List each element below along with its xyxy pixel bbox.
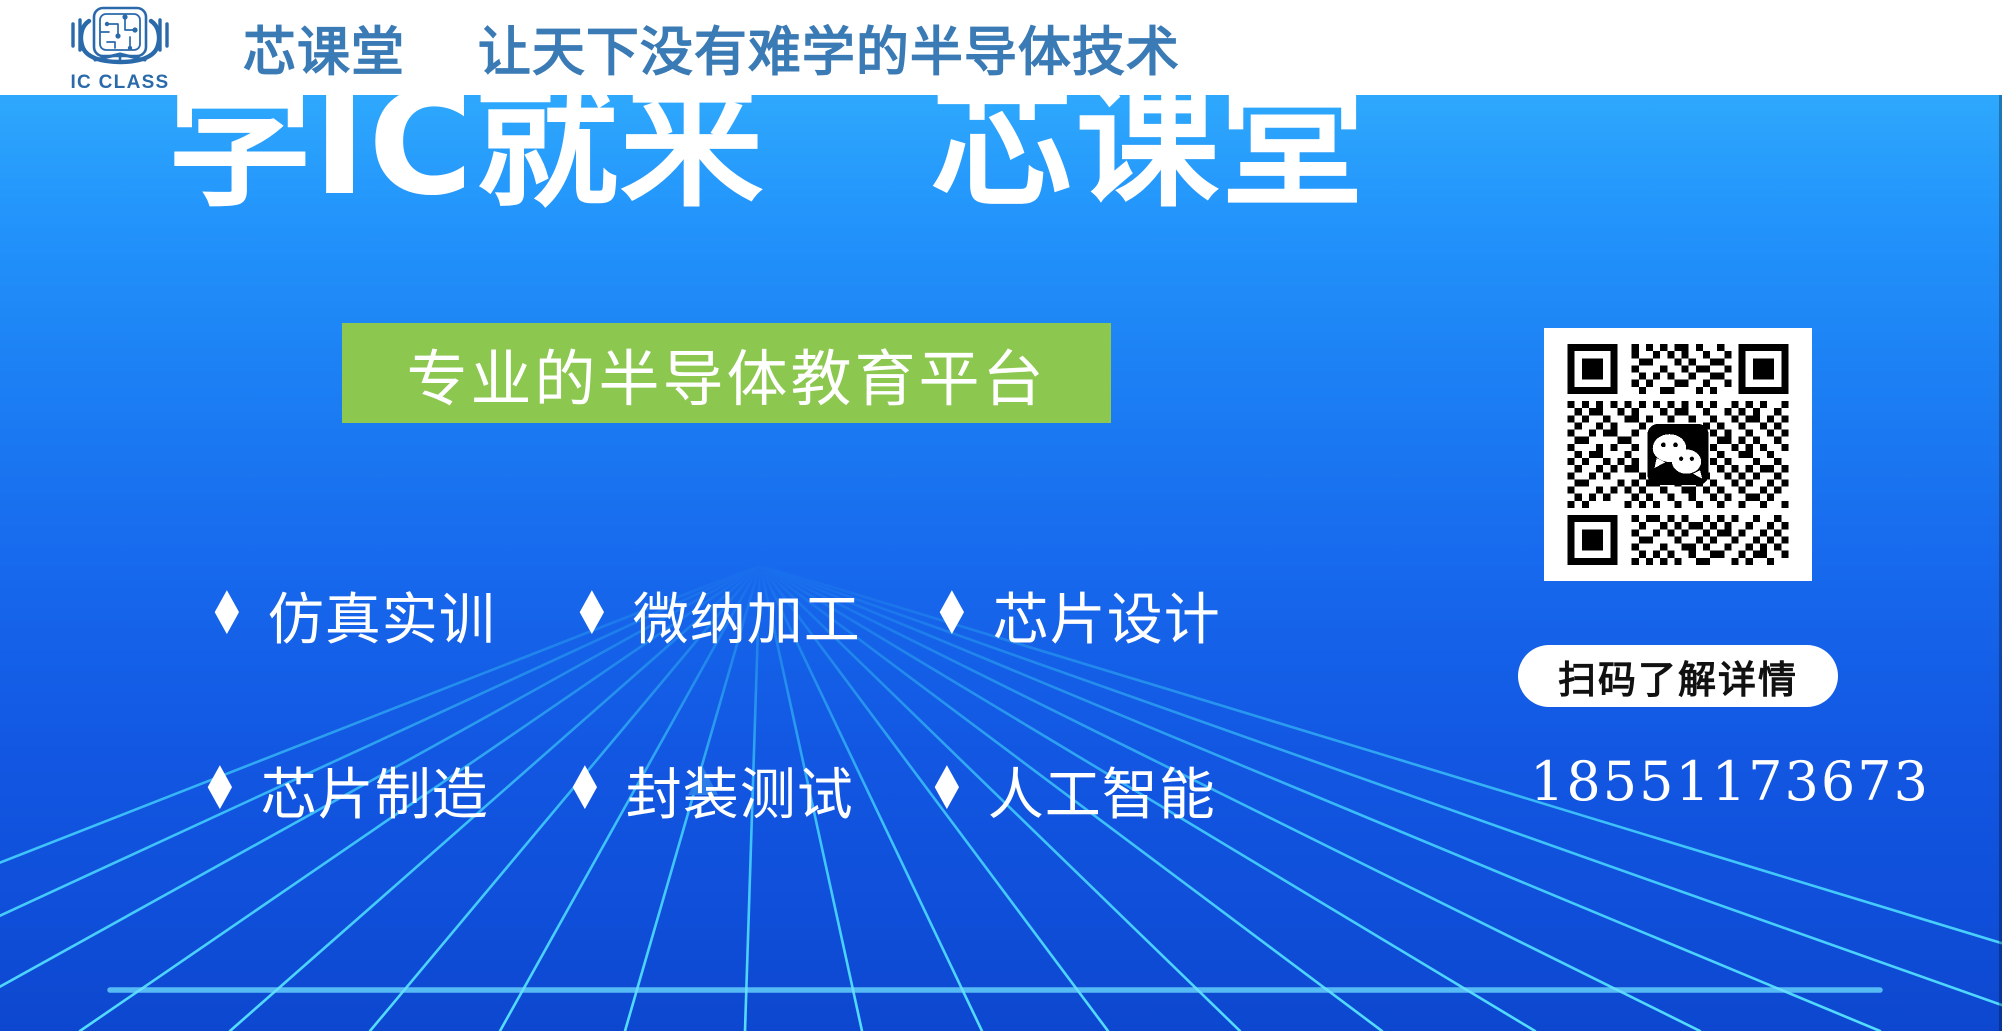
feature-item-simulation-training[interactable]: ♦ 仿真实训 xyxy=(200,575,496,656)
feature-label: 封装测试 xyxy=(626,750,854,831)
diamond-bullet-icon: ♦ xyxy=(566,759,605,819)
feature-item-packaging-testing[interactable]: ♦ 封装测试 xyxy=(558,750,854,831)
diamond-bullet-icon: ♦ xyxy=(928,759,967,819)
feature-list: ♦ 仿真实训 ♦ 微纳加工 ♦ 芯片设计 ♦ 芯片制造 ♦ 封装测试 ♦ 人工智… xyxy=(0,0,1480,936)
feature-item-artificial-intelligence[interactable]: ♦ 人工智能 xyxy=(920,750,1216,831)
diamond-bullet-icon: ♦ xyxy=(933,584,972,644)
feature-item-chip-design[interactable]: ♦ 芯片设计 xyxy=(925,575,1221,656)
header-tagline: 芯课堂 让天下没有难学的半导体技术 xyxy=(243,10,1180,86)
phone-number[interactable]: 18551173673 xyxy=(1530,750,1830,813)
scan-for-details-label: 扫码了解详情 xyxy=(1558,649,1798,704)
promotional-banner: IC CLASS 芯课堂 让天下没有难学的半导体技术 学IC就来 芯课堂 专业的… xyxy=(0,0,2002,1031)
header-slogan: 让天下没有难学的半导体技术 xyxy=(478,22,1180,83)
brand-logo[interactable]: IC CLASS xyxy=(55,4,185,96)
wechat-logo-icon xyxy=(1647,424,1708,485)
logo-wordmark: IC CLASS xyxy=(70,72,169,94)
feature-label: 人工智能 xyxy=(988,750,1216,831)
wechat-qr-code-icon xyxy=(1553,337,1803,572)
feature-item-chip-manufacturing[interactable]: ♦ 芯片制造 xyxy=(193,750,489,831)
feature-label: 芯片制造 xyxy=(261,750,489,831)
header-bar: IC CLASS 芯课堂 让天下没有难学的半导体技术 xyxy=(0,0,2002,95)
ic-class-circuit-book-icon xyxy=(55,4,185,72)
qr-code-card[interactable] xyxy=(1544,328,1812,581)
feature-label: 仿真实训 xyxy=(268,575,496,656)
diamond-bullet-icon: ♦ xyxy=(201,759,240,819)
contact-column: 扫码了解详情 18551173673 xyxy=(1500,0,2002,936)
diamond-bullet-icon: ♦ xyxy=(208,584,247,644)
header-brand-name: 芯课堂 xyxy=(243,22,405,83)
feature-label: 芯片设计 xyxy=(993,575,1221,656)
scan-for-details-button[interactable]: 扫码了解详情 xyxy=(1518,645,1838,707)
feature-label: 微纳加工 xyxy=(633,575,861,656)
diamond-bullet-icon: ♦ xyxy=(573,584,612,644)
feature-item-micro-nano-fabrication[interactable]: ♦ 微纳加工 xyxy=(565,575,861,656)
